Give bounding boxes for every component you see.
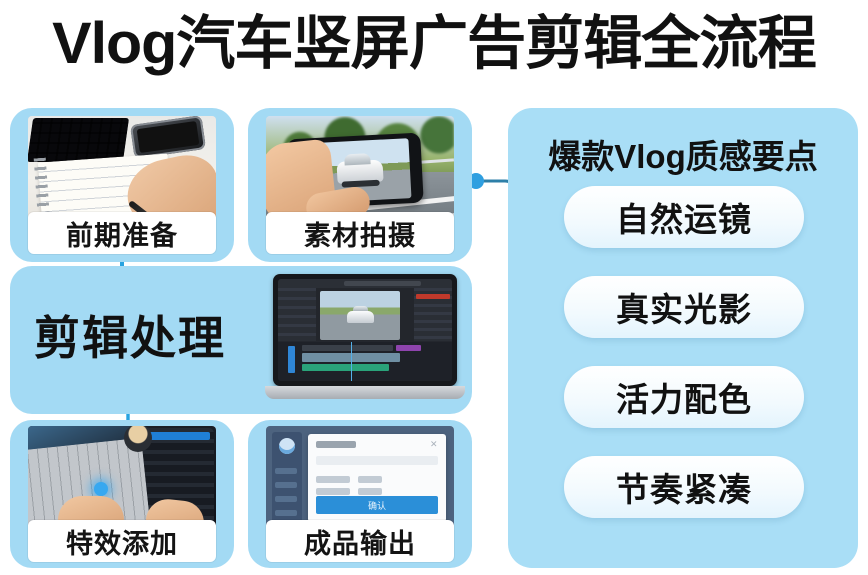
step-card-fx[interactable]: 特效添加 — [10, 420, 234, 568]
export-label: 成品输出 — [266, 520, 454, 562]
shoot-label: 素材拍摄 — [266, 212, 454, 254]
quality-point-pill-2[interactable]: 真实光影 — [564, 276, 804, 338]
close-icon[interactable]: ✕ — [430, 440, 438, 448]
edit-label: 剪辑处理 — [34, 302, 226, 368]
step-card-edit[interactable]: 剪辑处理 — [10, 266, 472, 414]
page-title: Vlog汽车竖屏广告剪辑全流程 — [0, 6, 868, 82]
quality-points-panel: 爆款Vlog质感要点 自然运镜 真实光影 活力配色 节奏紧凑 — [508, 108, 858, 568]
export-photo: ✕ 确认 — [266, 426, 454, 530]
fx-label: 特效添加 — [28, 520, 216, 562]
step-card-shoot[interactable]: 素材拍摄 — [248, 108, 472, 262]
step-card-export[interactable]: ✕ 确认 成品输出 — [248, 420, 472, 568]
infographic-root: Vlog汽车竖屏广告剪辑全流程 — [0, 0, 868, 575]
quality-point-pill-4[interactable]: 节奏紧凑 — [564, 456, 804, 518]
prep-label: 前期准备 — [28, 212, 216, 254]
panel-title: 爆款Vlog质感要点 — [508, 130, 858, 178]
dialog-title — [316, 441, 356, 448]
step-card-prep[interactable]: 前期准备 — [10, 108, 234, 262]
export-confirm-button[interactable]: 确认 — [316, 496, 438, 514]
laptop-editor-photo — [265, 274, 465, 404]
quality-point-pill-3[interactable]: 活力配色 — [564, 366, 804, 428]
avatar — [279, 438, 295, 454]
fx-photo — [28, 426, 216, 530]
quality-point-pill-1[interactable]: 自然运镜 — [564, 186, 804, 248]
